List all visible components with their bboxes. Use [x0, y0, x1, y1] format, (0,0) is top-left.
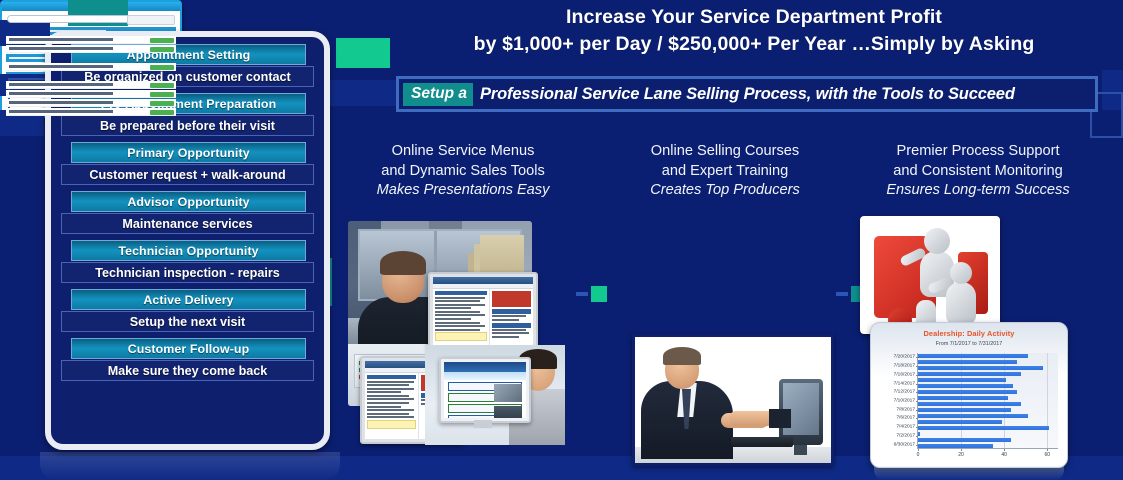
chart-y-tick-label: 7/14/2017	[894, 381, 915, 386]
search-input[interactable]	[7, 15, 175, 23]
step-title: Technician Opportunity	[118, 244, 258, 258]
arrow-connector-1-to-2	[576, 286, 607, 302]
course-title-placeholder	[9, 47, 113, 49]
step-title-box: Primary Opportunity	[71, 142, 306, 163]
menu-line	[367, 398, 414, 400]
chart-y-tick-label: 7/20/2017	[894, 355, 915, 360]
menu-line	[492, 319, 519, 321]
menu-section-header	[367, 375, 416, 379]
menu-section-header	[492, 309, 531, 314]
chart-y-tick	[916, 436, 918, 437]
step-detail-box: Maintenance services	[61, 213, 314, 234]
chart-gridline	[1047, 353, 1048, 449]
monitor-stand	[474, 420, 492, 428]
caption-line-3: Ensures Long-term Success	[848, 181, 1108, 201]
chart-y-tick	[916, 357, 918, 358]
product-image	[494, 406, 522, 418]
figure-2-body	[946, 282, 976, 324]
step-detail: Be prepared before their visit	[100, 119, 275, 133]
chart-y-tick-label: 7/18/2017	[894, 364, 915, 369]
menu-line	[367, 381, 414, 383]
course-title-placeholder	[9, 65, 113, 67]
course-title-placeholder	[9, 110, 113, 112]
chart-x-tick	[961, 449, 962, 451]
caption-line-2: and Dynamic Sales Tools	[348, 162, 578, 182]
menu-highlight-note	[435, 332, 487, 341]
caption-line-3: Creates Top Producers	[620, 181, 830, 201]
chart-bar	[918, 366, 1043, 370]
virtual-handshake-photo	[632, 334, 834, 466]
step-detail: Make sure they come back	[108, 364, 268, 378]
chart-subtitle: From 7/1/2017 to 7/31/2017	[871, 341, 1067, 347]
process-step-5[interactable]: Technician Opportunity Technician inspec…	[59, 240, 316, 283]
course-row[interactable]	[6, 108, 176, 116]
chart-x-tick-label: 60	[1044, 452, 1050, 458]
menu-line	[492, 315, 526, 317]
column-caption-2: Online Selling Courses and Expert Traini…	[620, 142, 830, 201]
course-title-placeholder	[9, 38, 113, 40]
chart-bar	[918, 390, 1017, 394]
menu-line	[435, 314, 485, 316]
menu-line	[435, 300, 480, 302]
chart-bar	[918, 378, 1006, 382]
arrow-right-icon	[836, 292, 848, 296]
process-step-6[interactable]: Active Delivery Setup the next visit	[59, 289, 316, 332]
chart-y-tick	[916, 410, 918, 411]
panel-reflection	[40, 452, 340, 480]
chart-y-tick-label: 7/16/2017	[894, 372, 915, 377]
deco-green-square-header	[336, 38, 390, 68]
enroll-button[interactable]	[150, 65, 174, 70]
chart-bar	[918, 360, 1017, 364]
chart-y-tick-label: 7/4/2017	[896, 425, 915, 430]
chart-bar	[918, 396, 1008, 400]
chart-bar	[918, 372, 1021, 376]
menu-line	[435, 325, 485, 327]
app-header-graphic	[444, 372, 526, 380]
arrow-node-icon	[591, 286, 607, 302]
menu-line	[367, 402, 409, 404]
screen-content	[444, 362, 526, 418]
step-title-box: Active Delivery	[71, 289, 306, 310]
chart-x-tick	[1047, 449, 1048, 451]
step-detail: Customer request + walk-around	[89, 168, 285, 182]
chart-card-reflection	[874, 466, 1064, 480]
figure-1-head	[924, 228, 950, 254]
step-title: Primary Opportunity	[127, 146, 249, 160]
promo-banner	[492, 291, 531, 307]
headline-line-2: by $1,000+ per Day / $250,000+ Per Year …	[404, 31, 1104, 58]
step-title: Advisor Opportunity	[127, 195, 249, 209]
enroll-button[interactable]	[150, 101, 174, 106]
chart-y-tick-label: 7/10/2017	[894, 399, 915, 404]
caption-line-2: and Consistent Monitoring	[848, 162, 1108, 182]
sales-tool-kiosk-screen	[439, 357, 531, 423]
chart-x-tick-label: 40	[1001, 452, 1007, 458]
chart-y-tick	[916, 418, 918, 419]
product-image	[494, 384, 522, 402]
subtitle-chip: Setup a	[403, 83, 473, 106]
menu-highlight-note	[367, 420, 416, 429]
chart-y-tick	[916, 384, 918, 385]
course-row[interactable]	[6, 90, 176, 98]
menu-line	[367, 413, 409, 415]
chart-y-tick	[916, 392, 918, 393]
course-row[interactable]	[6, 81, 176, 89]
menu-line	[367, 384, 409, 386]
step-title-box: Advisor Opportunity	[71, 191, 306, 212]
enroll-button[interactable]	[150, 83, 174, 88]
enroll-button[interactable]	[150, 92, 174, 97]
menu-line	[492, 332, 529, 334]
browser-titlebar	[433, 277, 533, 284]
step-detail-box: Technician inspection - repairs	[61, 262, 314, 283]
arrow-right-icon	[576, 292, 588, 296]
chart-x-axis	[917, 448, 1058, 449]
course-row[interactable]	[6, 45, 176, 53]
menu-section-header	[492, 323, 531, 328]
course-row[interactable]	[6, 36, 176, 44]
process-step-7[interactable]: Customer Follow-up Make sure they come b…	[59, 338, 316, 381]
chart-y-tick	[916, 366, 918, 367]
app-titlebar	[444, 362, 526, 372]
menu-line	[435, 307, 471, 309]
caption-line-2: and Expert Training	[620, 162, 830, 182]
menu-line	[435, 297, 485, 299]
step-title: Customer Follow-up	[128, 342, 250, 356]
deco-rect-header-1	[326, 80, 400, 106]
menu-line	[435, 311, 480, 313]
chart-x-tick-label: 0	[917, 452, 920, 458]
menu-right-pane	[489, 289, 533, 347]
chart-bar	[918, 384, 1013, 388]
chart-bar	[918, 432, 920, 436]
chart-y-tick-label: 7/12/2017	[894, 390, 915, 395]
screen-content	[433, 277, 533, 347]
chart-title: Dealership: Daily Activity	[871, 329, 1067, 338]
step-detail: Technician inspection - repairs	[95, 266, 280, 280]
customer-consultation-photo	[425, 345, 565, 445]
process-step-3[interactable]: Primary Opportunity Customer request + w…	[59, 142, 316, 185]
chart-bar	[918, 354, 1028, 358]
chart-x-tick	[918, 449, 919, 451]
chart-y-tick	[916, 445, 918, 446]
caption-line-1: Premier Process Support	[848, 142, 1108, 162]
menu-body	[433, 289, 533, 347]
chart-bar	[918, 402, 1021, 406]
course-title-placeholder	[9, 92, 113, 94]
chart-y-tick	[916, 375, 918, 376]
slide-canvas: Increase Your Service Department Profit …	[0, 0, 1123, 480]
figure-2-head	[950, 262, 972, 284]
course-row[interactable]	[6, 63, 176, 71]
monitor-arm-sleeve	[769, 409, 791, 428]
menu-line	[435, 304, 485, 306]
step-detail-box: Make sure they come back	[61, 360, 314, 381]
enroll-button[interactable]	[150, 110, 174, 115]
chart-y-tick-label: 6/30/2017	[894, 442, 915, 447]
headline-line-1: Increase Your Service Department Profit	[404, 4, 1104, 31]
keyboard	[731, 437, 793, 447]
menu-line	[435, 329, 480, 331]
chart-y-tick-label: 7/2/2017	[896, 433, 915, 438]
subtitle-banner: Setup a Professional Service Lane Sellin…	[396, 76, 1098, 112]
teamwork-puzzle-graphic	[860, 216, 1000, 334]
chart-plot-area: 02040607/20/20177/18/20177/16/20177/14/2…	[917, 353, 1058, 449]
caption-line-1: Online Selling Courses	[620, 142, 830, 162]
menu-line	[435, 322, 480, 324]
salesman-hair	[663, 347, 701, 365]
course-title-placeholder	[9, 83, 113, 85]
menu-section-header	[435, 291, 487, 295]
chart-bar	[918, 438, 1011, 442]
enroll-button[interactable]	[150, 47, 174, 52]
menu-line	[367, 409, 414, 411]
step-title-box: Customer Follow-up	[71, 338, 306, 359]
step-title: Active Delivery	[143, 293, 233, 307]
course-row[interactable]	[6, 99, 176, 107]
menu-left-pane	[365, 373, 418, 439]
chart-x-tick	[1004, 449, 1005, 451]
menu-line	[367, 388, 414, 390]
advisor-hair	[380, 251, 426, 275]
menu-line	[367, 395, 409, 397]
step-detail: Maintenance services	[122, 217, 252, 231]
column-caption-3: Premier Process Support and Consistent M…	[848, 142, 1108, 201]
subtitle-text: Professional Service Lane Selling Proces…	[473, 85, 1015, 104]
step-title-box: Technician Opportunity	[71, 240, 306, 261]
column-caption-1: Online Service Menus and Dynamic Sales T…	[348, 142, 578, 201]
step-detail: Setup the next visit	[130, 315, 245, 329]
menu-line	[492, 336, 519, 338]
caption-line-3: Makes Presentations Easy	[348, 181, 578, 201]
step-detail-box: Be prepared before their visit	[61, 115, 314, 136]
chart-bar	[918, 420, 1002, 424]
menu-left-pane	[433, 289, 489, 347]
menu-line	[435, 318, 471, 320]
chart-bar	[918, 408, 1011, 412]
menu-line	[367, 406, 401, 408]
chart-x-tick-label: 20	[958, 452, 964, 458]
chart-y-tick	[916, 427, 918, 428]
page-title: Increase Your Service Department Profit …	[404, 4, 1104, 58]
chart-bar	[918, 426, 1049, 430]
enroll-button[interactable]	[150, 38, 174, 43]
caption-line-1: Online Service Menus	[348, 142, 578, 162]
process-step-4[interactable]: Advisor Opportunity Maintenance services	[59, 191, 316, 234]
chart-bar	[918, 414, 1028, 418]
menu-line	[492, 329, 526, 331]
daily-activity-chart-card: Dealership: Daily Activity From 7/1/2017…	[870, 322, 1068, 468]
service-menu-screenshot-1	[428, 272, 538, 352]
menu-line	[367, 416, 414, 418]
step-detail-box: Setup the next visit	[61, 311, 314, 332]
chart-y-tick-label: 7/8/2017	[896, 407, 915, 412]
step-detail-box: Customer request + walk-around	[61, 164, 314, 185]
chart-y-tick	[916, 401, 918, 402]
menu-line	[367, 391, 401, 393]
course-title-placeholder	[9, 101, 113, 103]
chart-y-tick-label: 7/6/2017	[896, 416, 915, 421]
